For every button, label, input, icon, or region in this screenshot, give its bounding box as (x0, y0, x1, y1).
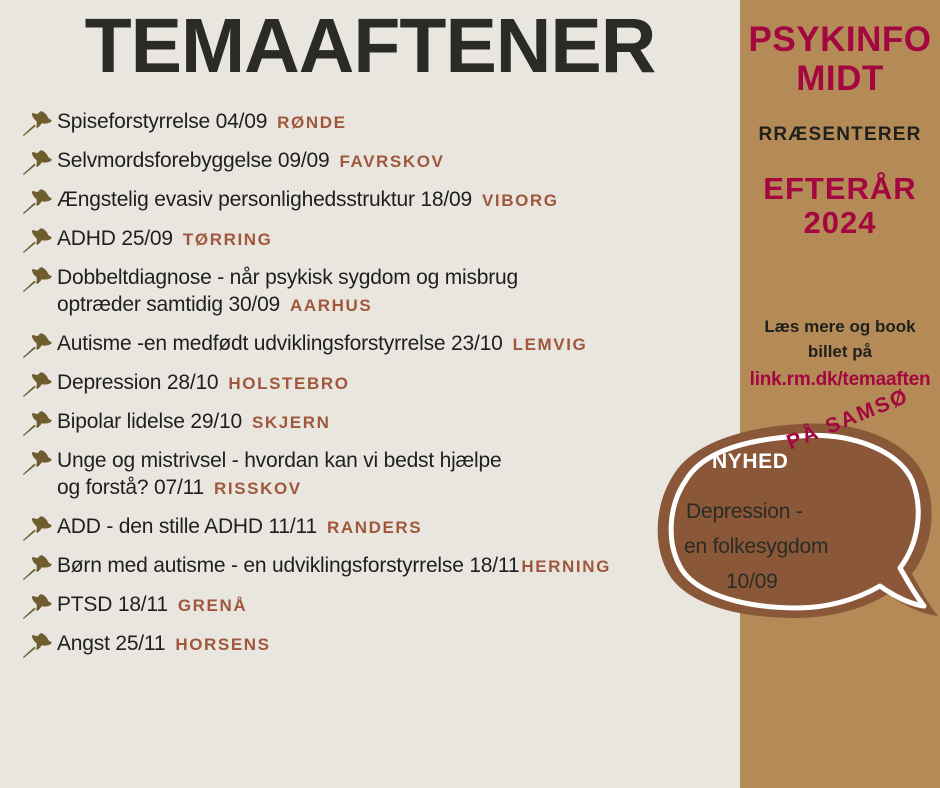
event-city: HORSENS (175, 635, 270, 654)
pushpin-icon (22, 449, 52, 475)
event-city: RANDERS (327, 518, 422, 537)
event-text: Angst 25/11HORSENS (57, 630, 271, 658)
booking-line1: Læs mere og book (746, 315, 934, 340)
event-city: LEMVIG (513, 335, 588, 354)
list-item[interactable]: Angst 25/11HORSENS (22, 630, 742, 658)
brand-name-line1: PSYKINFO (740, 22, 940, 59)
event-city: SKJERN (252, 413, 331, 432)
pushpin-icon (22, 149, 52, 175)
pushpin-icon (22, 332, 52, 358)
event-text: ADD - den stille ADHD 11/11RANDERS (57, 513, 422, 541)
year-label: 2024 (740, 206, 940, 241)
list-item[interactable]: Bipolar lidelse 29/10SKJERN (22, 408, 742, 436)
event-text: ADHD 25/09TØRRING (57, 225, 272, 253)
event-text: Autisme -en medfødt udviklingsforstyrrel… (57, 330, 587, 358)
event-city: TØRRING (183, 230, 273, 249)
event-city: AARHUS (290, 296, 372, 315)
event-title: Unge og mistrivsel - hvordan kan vi beds… (57, 449, 501, 472)
season-label: EFTERÅR (740, 172, 940, 207)
event-city: FAVRSKOV (339, 152, 444, 171)
event-title-line2: og forstå? 07/11RISSKOV (57, 475, 501, 502)
poster-canvas: TEMAAFTENER Spiseforstyrrelse 04/09RØNDE… (0, 0, 940, 788)
event-text: Unge og mistrivsel - hvordan kan vi beds… (57, 447, 501, 502)
event-text: Ængstelig evasiv personlighedsstruktur 1… (57, 186, 559, 214)
presents-label: RRÆSENTERER (740, 124, 940, 146)
event-title: Ængstelig evasiv personlighedsstruktur 1… (57, 188, 472, 211)
list-item[interactable]: Unge og mistrivsel - hvordan kan vi beds… (22, 447, 742, 502)
event-text: PTSD 18/11GRENÅ (57, 591, 247, 619)
event-city: VIBORG (482, 191, 559, 210)
pushpin-icon (22, 410, 52, 436)
event-city: HERNING (521, 557, 611, 576)
event-title: Spiseforstyrrelse 04/09 (57, 110, 267, 133)
event-title-line2: optræder samtidig 30/09AARHUS (57, 292, 518, 319)
list-item[interactable]: Autisme -en medfødt udviklingsforstyrrel… (22, 330, 742, 358)
list-item[interactable]: Selvmordsforebyggelse 09/09FAVRSKOV (22, 147, 742, 175)
list-item[interactable]: ADHD 25/09TØRRING (22, 225, 742, 253)
event-text: Børn med autisme - en udviklingsforstyrr… (57, 552, 611, 580)
event-city: RISSKOV (214, 479, 302, 498)
news-speech-bubble[interactable]: NYHED PÅ SAMSØ Depression - en folkesygd… (650, 418, 940, 648)
list-item[interactable]: PTSD 18/11GRENÅ (22, 591, 742, 619)
pushpin-icon (22, 593, 52, 619)
brand-name-line2: MIDT (740, 61, 940, 98)
pushpin-icon (22, 515, 52, 541)
pushpin-icon (22, 227, 52, 253)
event-text: Spiseforstyrrelse 04/09RØNDE (57, 108, 347, 136)
event-text: Bipolar lidelse 29/10SKJERN (57, 408, 331, 436)
list-item[interactable]: Spiseforstyrrelse 04/09RØNDE (22, 108, 742, 136)
pushpin-icon (22, 371, 52, 397)
event-city: HOLSTEBRO (228, 374, 349, 393)
list-item[interactable]: Ængstelig evasiv personlighedsstruktur 1… (22, 186, 742, 214)
pushpin-icon (22, 632, 52, 658)
event-text: Depression 28/10HOLSTEBRO (57, 369, 350, 397)
booking-line2: billet på (746, 340, 934, 365)
event-title-line2-text: og forstå? 07/11 (57, 476, 204, 499)
event-title-line2-text: optræder samtidig 30/09 (57, 293, 280, 316)
event-city: RØNDE (277, 113, 346, 132)
event-city: GRENÅ (178, 596, 247, 615)
event-title: Børn med autisme - en udviklingsforstyrr… (57, 554, 519, 577)
event-title: ADHD 25/09 (57, 227, 173, 250)
event-title: PTSD 18/11 (57, 593, 168, 616)
pushpin-icon (22, 110, 52, 136)
pushpin-icon (22, 188, 52, 214)
event-title: Autisme -en medfødt udviklingsforstyrrel… (57, 332, 503, 355)
event-title: Selvmordsforebyggelse 09/09 (57, 149, 329, 172)
list-item[interactable]: Depression 28/10HOLSTEBRO (22, 369, 742, 397)
pushpin-icon (22, 554, 52, 580)
page-title: TEMAAFTENER (0, 8, 740, 85)
list-item[interactable]: Børn med autisme - en udviklingsforstyrr… (22, 552, 742, 580)
event-title: ADD - den stille ADHD 11/11 (57, 515, 317, 538)
event-title: Bipolar lidelse 29/10 (57, 410, 242, 433)
event-title: Depression 28/10 (57, 371, 218, 394)
event-text: Dobbeltdiagnose - når psykisk sygdom og … (57, 264, 518, 319)
booking-url-link[interactable]: link.rm.dk/temaaften (746, 366, 934, 394)
sidebar-panel: PSYKINFO MIDT RRÆSENTERER EFTERÅR 2024 L… (740, 0, 940, 788)
event-title: Dobbeltdiagnose - når psykisk sygdom og … (57, 266, 518, 289)
pushpin-icon (22, 266, 52, 292)
list-item[interactable]: ADD - den stille ADHD 11/11RANDERS (22, 513, 742, 541)
booking-info: Læs mere og book billet på link.rm.dk/te… (740, 315, 940, 394)
event-text: Selvmordsforebyggelse 09/09FAVRSKOV (57, 147, 445, 175)
event-title: Angst 25/11 (57, 632, 165, 655)
event-list: Spiseforstyrrelse 04/09RØNDE Selvmordsfo… (22, 108, 742, 669)
list-item[interactable]: Dobbeltdiagnose - når psykisk sygdom og … (22, 264, 742, 319)
